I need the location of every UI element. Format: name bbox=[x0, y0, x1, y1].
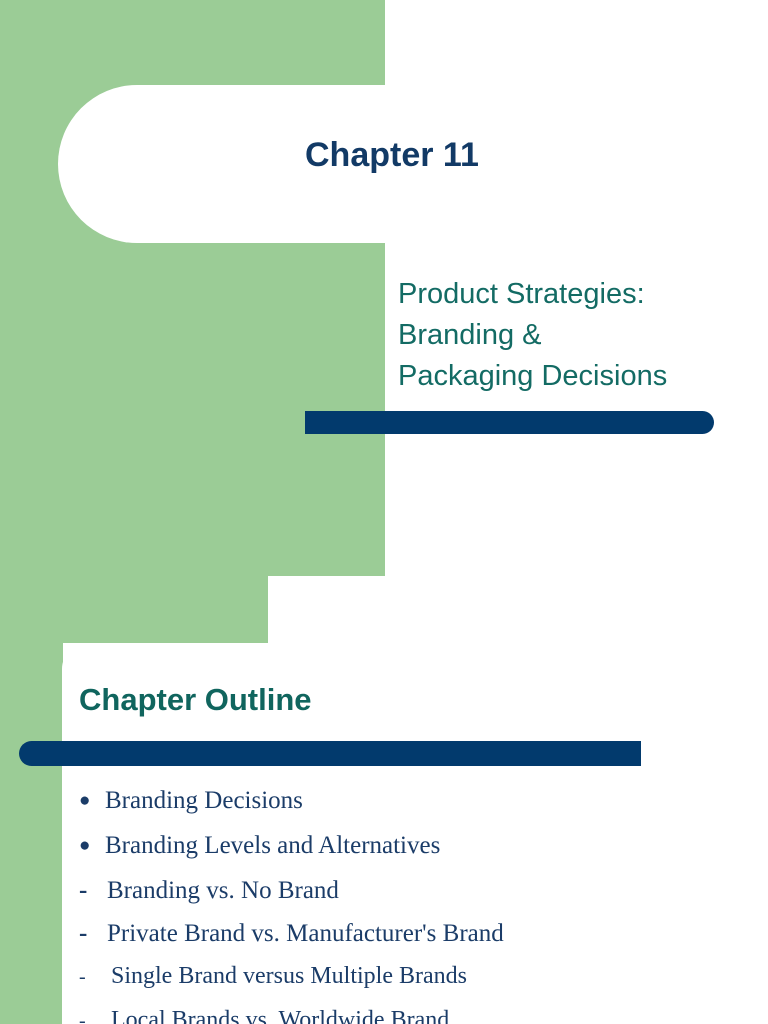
outline-accent-bar bbox=[19, 741, 641, 766]
outline-list-item: -Local Brands vs. Worldwide Brand bbox=[79, 999, 719, 1024]
outline-list-item: -Single Brand versus Multiple Brands bbox=[79, 955, 719, 999]
green-background-step bbox=[0, 576, 268, 643]
outline-item-label: Branding vs. No Brand bbox=[107, 869, 339, 912]
dash-icon: - bbox=[79, 956, 111, 999]
outline-list-item: -Branding vs. No Brand bbox=[79, 869, 719, 912]
outline-list-item: -Private Brand vs. Manufacturer's Brand bbox=[79, 912, 719, 955]
slide-subtitle: Product Strategies: Branding & Packaging… bbox=[398, 274, 667, 397]
outline-list-item: ●Branding Levels and Alternatives bbox=[79, 824, 719, 869]
dash-icon: - bbox=[79, 1000, 111, 1024]
outline-heading: Chapter Outline bbox=[79, 682, 312, 718]
presentation-slide: Chapter 11 Product Strategies: Branding … bbox=[0, 0, 768, 1024]
bullet-icon: ● bbox=[79, 824, 105, 867]
outline-item-label: Local Brands vs. Worldwide Brand bbox=[111, 999, 449, 1024]
green-background-middle bbox=[0, 243, 385, 576]
title-accent-bar bbox=[305, 411, 714, 434]
green-background-strip bbox=[0, 643, 63, 1024]
bullet-icon: ● bbox=[79, 779, 105, 822]
dash-icon: - bbox=[79, 912, 107, 955]
page-title: Chapter 11 bbox=[305, 136, 479, 175]
outline-list-item: ●Branding Decisions bbox=[79, 779, 719, 824]
outline-item-label: Single Brand versus Multiple Brands bbox=[111, 955, 467, 998]
outline-item-label: Private Brand vs. Manufacturer's Brand bbox=[107, 912, 504, 955]
dash-icon: - bbox=[79, 869, 107, 912]
outline-item-label: Branding Decisions bbox=[105, 779, 303, 822]
outline-list: ●Branding Decisions●Branding Levels and … bbox=[79, 779, 719, 1024]
outline-item-label: Branding Levels and Alternatives bbox=[105, 824, 440, 867]
